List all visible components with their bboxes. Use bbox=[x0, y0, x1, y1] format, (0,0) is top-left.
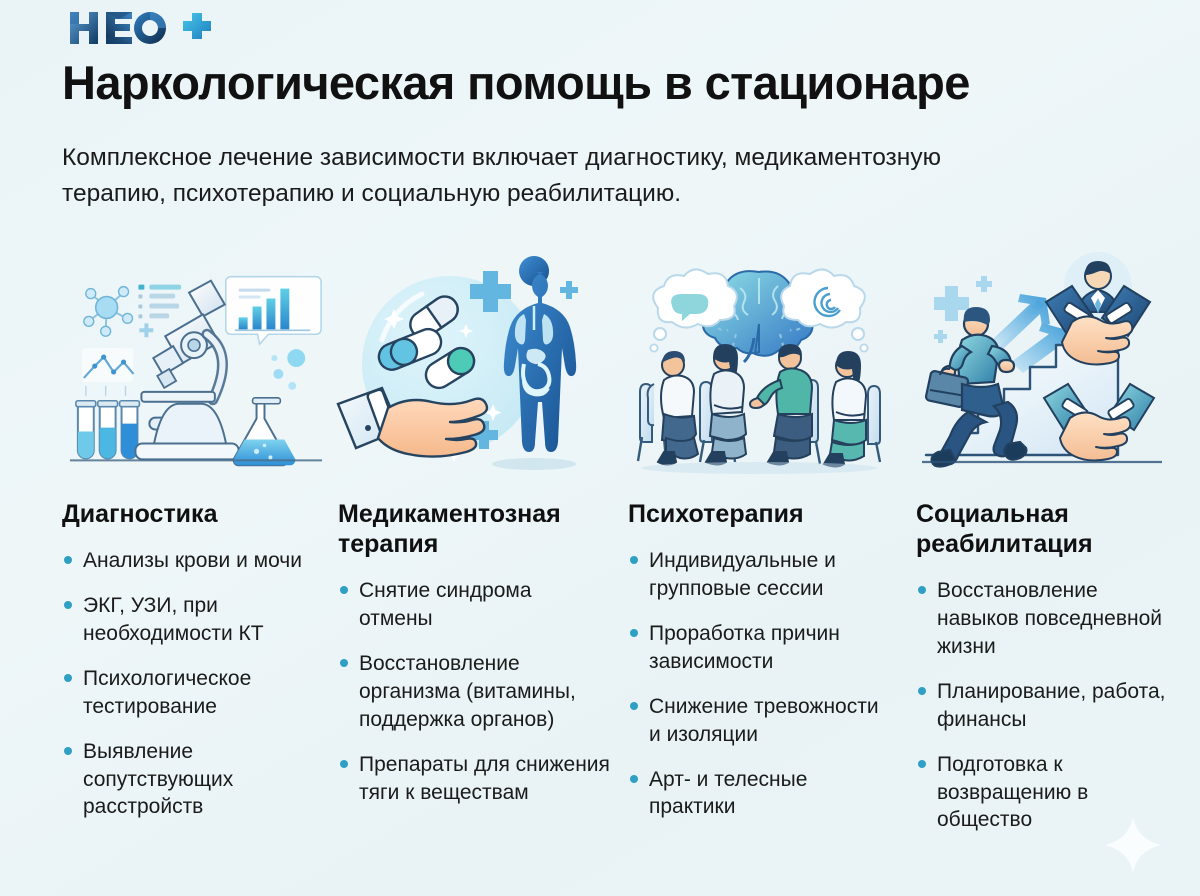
medical-cross-icon bbox=[560, 281, 578, 299]
list-item: Планирование, работа, финансы bbox=[916, 678, 1168, 734]
brand-logo-icon bbox=[62, 8, 212, 48]
medical-cross-icon bbox=[976, 276, 992, 292]
flask-icon bbox=[234, 398, 296, 465]
bullet-list-diagnostics: Анализы крови и мочи ЭКГ, УЗИ, при необх… bbox=[62, 547, 330, 821]
column-social-rehab: Социальная реабилитация Восстановление н… bbox=[916, 262, 1168, 851]
brand-logo bbox=[62, 8, 212, 48]
list-item: Восстановление навыков повседневной жизн… bbox=[916, 577, 1168, 661]
column-heading-social-rehab: Социальная реабилитация bbox=[916, 499, 1168, 559]
column-heading-diagnostics: Диагностика bbox=[62, 499, 330, 529]
line-chart-icon bbox=[82, 348, 134, 396]
group-therapy-brain-icon bbox=[628, 262, 890, 477]
list-item: Восстановление организма (витамины, подд… bbox=[338, 650, 610, 734]
four-point-star-icon bbox=[1104, 816, 1162, 874]
person-icon bbox=[700, 344, 746, 465]
person-icon bbox=[824, 351, 880, 467]
list-item: Снятие синдрома отмены bbox=[338, 577, 610, 633]
columns-container: Диагностика Анализы крови и мочи ЭКГ, УЗ… bbox=[0, 262, 1200, 896]
column-psychotherapy: Психотерапия Индивидуальные и групповые … bbox=[628, 262, 890, 838]
bullet-list-psychotherapy: Индивидуальные и групповые сессии Прораб… bbox=[628, 547, 890, 821]
person-icon bbox=[638, 351, 698, 465]
list-item: ЭКГ, УЗИ, при необходимости КТ bbox=[62, 592, 330, 648]
bullet-list-social-rehab: Восстановление навыков повседневной жизн… bbox=[916, 577, 1168, 834]
microscope-lab-icon bbox=[62, 262, 330, 477]
list-item: Препараты для снижения тяги к веществам bbox=[338, 751, 610, 807]
page-title: Наркологическая помощь в стационаре bbox=[62, 58, 1152, 109]
report-lines-icon bbox=[138, 285, 181, 319]
infographic-page: Наркологическая помощь в стационаре Комп… bbox=[0, 0, 1200, 896]
person-icon bbox=[750, 344, 820, 465]
medical-cross-icon bbox=[934, 330, 947, 343]
bubble-icon bbox=[288, 382, 296, 390]
list-item: Арт- и телесные практики bbox=[628, 766, 890, 822]
list-item: Анализы крови и мочи bbox=[62, 547, 330, 575]
stairs-handshake-icon bbox=[916, 262, 1168, 477]
list-item: Индивидуальные и групповые сессии bbox=[628, 547, 890, 603]
bubble-icon bbox=[271, 355, 277, 361]
column-heading-psychotherapy: Психотерапия bbox=[628, 499, 890, 529]
bar-chart-bubble-icon bbox=[226, 277, 321, 344]
test-tubes-icon bbox=[76, 401, 140, 459]
list-item: Снижение тревожности и изоляции bbox=[628, 693, 890, 749]
bubble-icon bbox=[273, 369, 283, 379]
illustration-psychotherapy bbox=[628, 262, 890, 477]
list-item: Психологическое тестирование bbox=[62, 665, 330, 721]
column-diagnostics: Диагностика Анализы крови и мочи ЭКГ, УЗ… bbox=[62, 262, 330, 838]
list-item: Проработка причин зависимости bbox=[628, 620, 890, 676]
plus-small-icon bbox=[139, 323, 153, 337]
page-subtitle: Комплексное лечение зависимости включает… bbox=[62, 140, 962, 213]
medical-cross-icon bbox=[934, 286, 969, 321]
illustration-social-rehab bbox=[916, 262, 1168, 477]
illustration-diagnostics bbox=[62, 262, 330, 477]
column-heading-medication: Медикаментозная терапия bbox=[338, 499, 610, 559]
bubble-icon bbox=[287, 349, 305, 367]
hand-pills-body-icon bbox=[338, 262, 610, 477]
illustration-medication bbox=[338, 262, 610, 477]
list-item: Выявление сопутствующих расстройств bbox=[62, 738, 330, 822]
column-medication: Медикаментозная терапия Снятие синдрома … bbox=[338, 262, 610, 823]
bullet-list-medication: Снятие синдрома отмены Восстановление ор… bbox=[338, 577, 610, 806]
sparkle-decoration-icon bbox=[1104, 816, 1162, 874]
